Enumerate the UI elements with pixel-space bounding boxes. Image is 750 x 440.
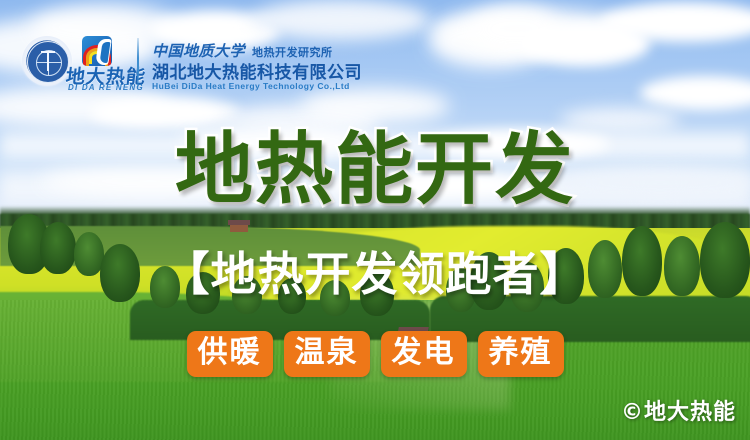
- service-tag[interactable]: 发电: [381, 331, 467, 377]
- page-title: 地热能开发: [0, 131, 750, 209]
- copyright-notice: ©地大热能: [621, 394, 736, 426]
- hammer-handle-icon: [47, 51, 49, 71]
- logo-wordmark-en: DI DA RE NENG: [68, 83, 144, 92]
- university-emblem-inner: [27, 41, 69, 83]
- service-tag[interactable]: 养殖: [478, 331, 564, 377]
- globe-icon: [36, 50, 62, 76]
- header-divider: [137, 38, 139, 88]
- service-tag[interactable]: 供暖: [187, 331, 273, 377]
- brand-header: 地大热能 DI DA RE NENG 中国地质大学 地热开发研究所 湖北地大热能…: [0, 0, 750, 115]
- org-company-cn: 湖北地大热能科技有限公司: [152, 58, 362, 83]
- org-company-en: HuBei DiDa Heat Energy Technology Co.,Lt…: [152, 81, 350, 91]
- service-tag-list: 供暖 温泉 发电 养殖: [0, 331, 750, 377]
- service-tag[interactable]: 温泉: [284, 331, 370, 377]
- org-line-university: 中国地质大学 地热开发研究所: [152, 40, 333, 56]
- geothermal-promo-banner: 地大热能 DI DA RE NENG 中国地质大学 地热开发研究所 湖北地大热能…: [0, 0, 750, 440]
- farm-barn: [230, 225, 248, 232]
- page-subtitle: 【地热开发领跑者】: [0, 249, 750, 299]
- university-emblem-icon: [22, 36, 72, 86]
